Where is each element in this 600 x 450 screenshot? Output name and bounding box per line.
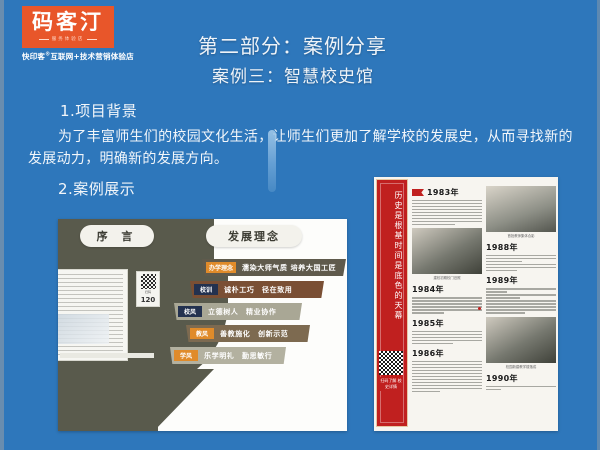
concept-bar-text: 善教施化 创新示范 xyxy=(220,329,288,339)
timeline-year: 1986年 xyxy=(412,348,482,359)
logo-tagline-rest: 互联网+技术营销体验店 xyxy=(50,52,133,61)
timeline-photo-caption: 首批教师集体合影 xyxy=(486,233,556,238)
logo-badge: 码客汀 服务体验店 xyxy=(22,6,114,48)
timeline-year: 1990年 xyxy=(486,373,556,384)
timeline-year: 1989年 xyxy=(486,275,556,286)
timeline-year: 1983年 xyxy=(412,187,482,198)
logo-brand-subtext: 服务体验店 xyxy=(39,36,98,42)
logo-tagline: 快印客®互联网+技术营销体验店 xyxy=(22,51,114,62)
concept-bar: 办学理念 濡染大师气质 培养大国工匠 xyxy=(202,259,346,276)
concept-bar: 教风 善教施化 创新示范 xyxy=(186,325,310,342)
timeline-marker-dot xyxy=(478,307,481,310)
exhibit-tab-preface: 序 言 xyxy=(80,225,154,247)
timeline-column-right: 首批教师集体合影 1988年 1989年 校园新建教学楼落成 1990年 xyxy=(486,183,556,392)
timeline-photo-image xyxy=(412,228,482,274)
preface-panel-base xyxy=(60,353,154,358)
concept-bar-text: 濡染大师气质 培养大国工匠 xyxy=(242,263,336,273)
timeline-photo-caption: 校园新建教学楼落成 xyxy=(486,364,556,369)
timeline-body-text xyxy=(412,361,482,392)
slide-title: 第二部分：案例分享 xyxy=(198,30,387,59)
timeline-photo-image xyxy=(486,186,556,232)
timeline-body-text xyxy=(486,288,556,313)
left-photo-wedge xyxy=(154,369,214,431)
exhibit-qr-caption: 扫码 xyxy=(145,291,151,295)
timeline-photo: 校园新建教学楼落成 xyxy=(486,317,556,369)
timeline-photo-caption: 建校初期校门旧照 xyxy=(412,275,482,280)
brand-logo: 码客汀 服务体验店 快印客®互联网+技术营销体验店 xyxy=(22,6,114,62)
concept-bar-chip: 学风 xyxy=(174,350,198,361)
exhibit-qr-card[interactable]: 扫码 120 xyxy=(136,271,160,307)
timeline-year: 1985年 xyxy=(412,318,482,329)
concept-bar: 学风 乐学明礼 勤思敏行 xyxy=(170,347,286,364)
concept-bar-chip: 办学理念 xyxy=(206,262,236,273)
timeline-photo-image xyxy=(486,317,556,363)
exhibit-qr-number: 120 xyxy=(141,296,156,304)
concept-bar-text: 乐学明礼 勤思敏行 xyxy=(204,351,272,361)
timeline-qr-caption: 扫码了解 校史详情 xyxy=(379,377,403,391)
heading-project-background: 1.项目背景 xyxy=(60,100,137,121)
ribbon-icon xyxy=(412,189,424,196)
timeline-qr-block[interactable]: 扫码了解 校史详情 xyxy=(379,351,403,391)
preface-panel-image xyxy=(58,314,109,344)
concept-bars: 办学理念 濡染大师气质 培养大国工匠 校训 诚朴工巧 径在致用 校风 立德树人 … xyxy=(168,259,346,369)
preface-text-panel xyxy=(58,269,128,361)
timeline-year: 1984年 xyxy=(412,284,482,295)
concept-bar-text: 立德树人 精业协作 xyxy=(208,307,276,317)
timeline-body-text xyxy=(486,386,556,390)
timeline-column-left: 1983年 建校初期校门旧照 1984年 1985年 1986年 xyxy=(412,183,482,394)
concept-bar: 校训 诚朴工巧 径在致用 xyxy=(190,281,324,298)
logo-brand-text: 码客汀 xyxy=(32,12,104,33)
timeline-photo: 建校初期校门旧照 xyxy=(412,228,482,280)
left-exhibit-photo[interactable]: 序 言 发展理念 扫码 120 办学理念 濡染大师气质 培养大国工匠 校训 诚朴… xyxy=(58,219,347,431)
background-paragraph: 为了丰富师生们的校园文化生活，让师生们更加了解学校的发展史，从而寻找新的发展动力… xyxy=(28,126,576,170)
heading-case-showcase: 2.案例展示 xyxy=(58,178,135,199)
left-photo-curve-lower xyxy=(58,369,158,431)
slide-left-edge xyxy=(0,0,4,450)
timeline-banner-text: 历史是根基时间是底色的天幕 xyxy=(374,191,406,321)
timeline-photo: 首批教师集体合影 xyxy=(486,186,556,238)
concept-bar: 校风 立德树人 精业协作 xyxy=(174,303,302,320)
concept-bar-chip: 校训 xyxy=(194,284,218,295)
presentation-slide: 码客汀 服务体验店 快印客®互联网+技术营销体验店 第二部分：案例分享 案例三：… xyxy=(0,0,600,450)
timeline-year: 1988年 xyxy=(486,242,556,253)
timeline-body-text xyxy=(412,297,482,313)
qr-code-icon xyxy=(141,274,156,289)
concept-bar-chip: 校风 xyxy=(178,306,202,317)
right-exhibit-photo[interactable]: 历史是根基时间是底色的天幕 扫码了解 校史详情 1983年 建校初期校门旧照 1… xyxy=(374,177,558,431)
mouse-cursor-icon xyxy=(268,130,276,192)
timeline-year-label: 1983年 xyxy=(427,187,459,198)
timeline-body-text xyxy=(486,255,556,271)
concept-bar-text: 诚朴工巧 径在致用 xyxy=(224,285,292,295)
logo-tagline-prefix: 快印客 xyxy=(22,52,45,61)
slide-subtitle: 案例三：智慧校史馆 xyxy=(212,62,374,87)
concept-bar-chip: 教风 xyxy=(190,328,214,339)
exhibit-tab-concept: 发展理念 xyxy=(206,225,302,247)
timeline-body-text xyxy=(412,331,482,344)
qr-code-icon xyxy=(379,351,403,375)
timeline-body-text xyxy=(412,200,482,225)
